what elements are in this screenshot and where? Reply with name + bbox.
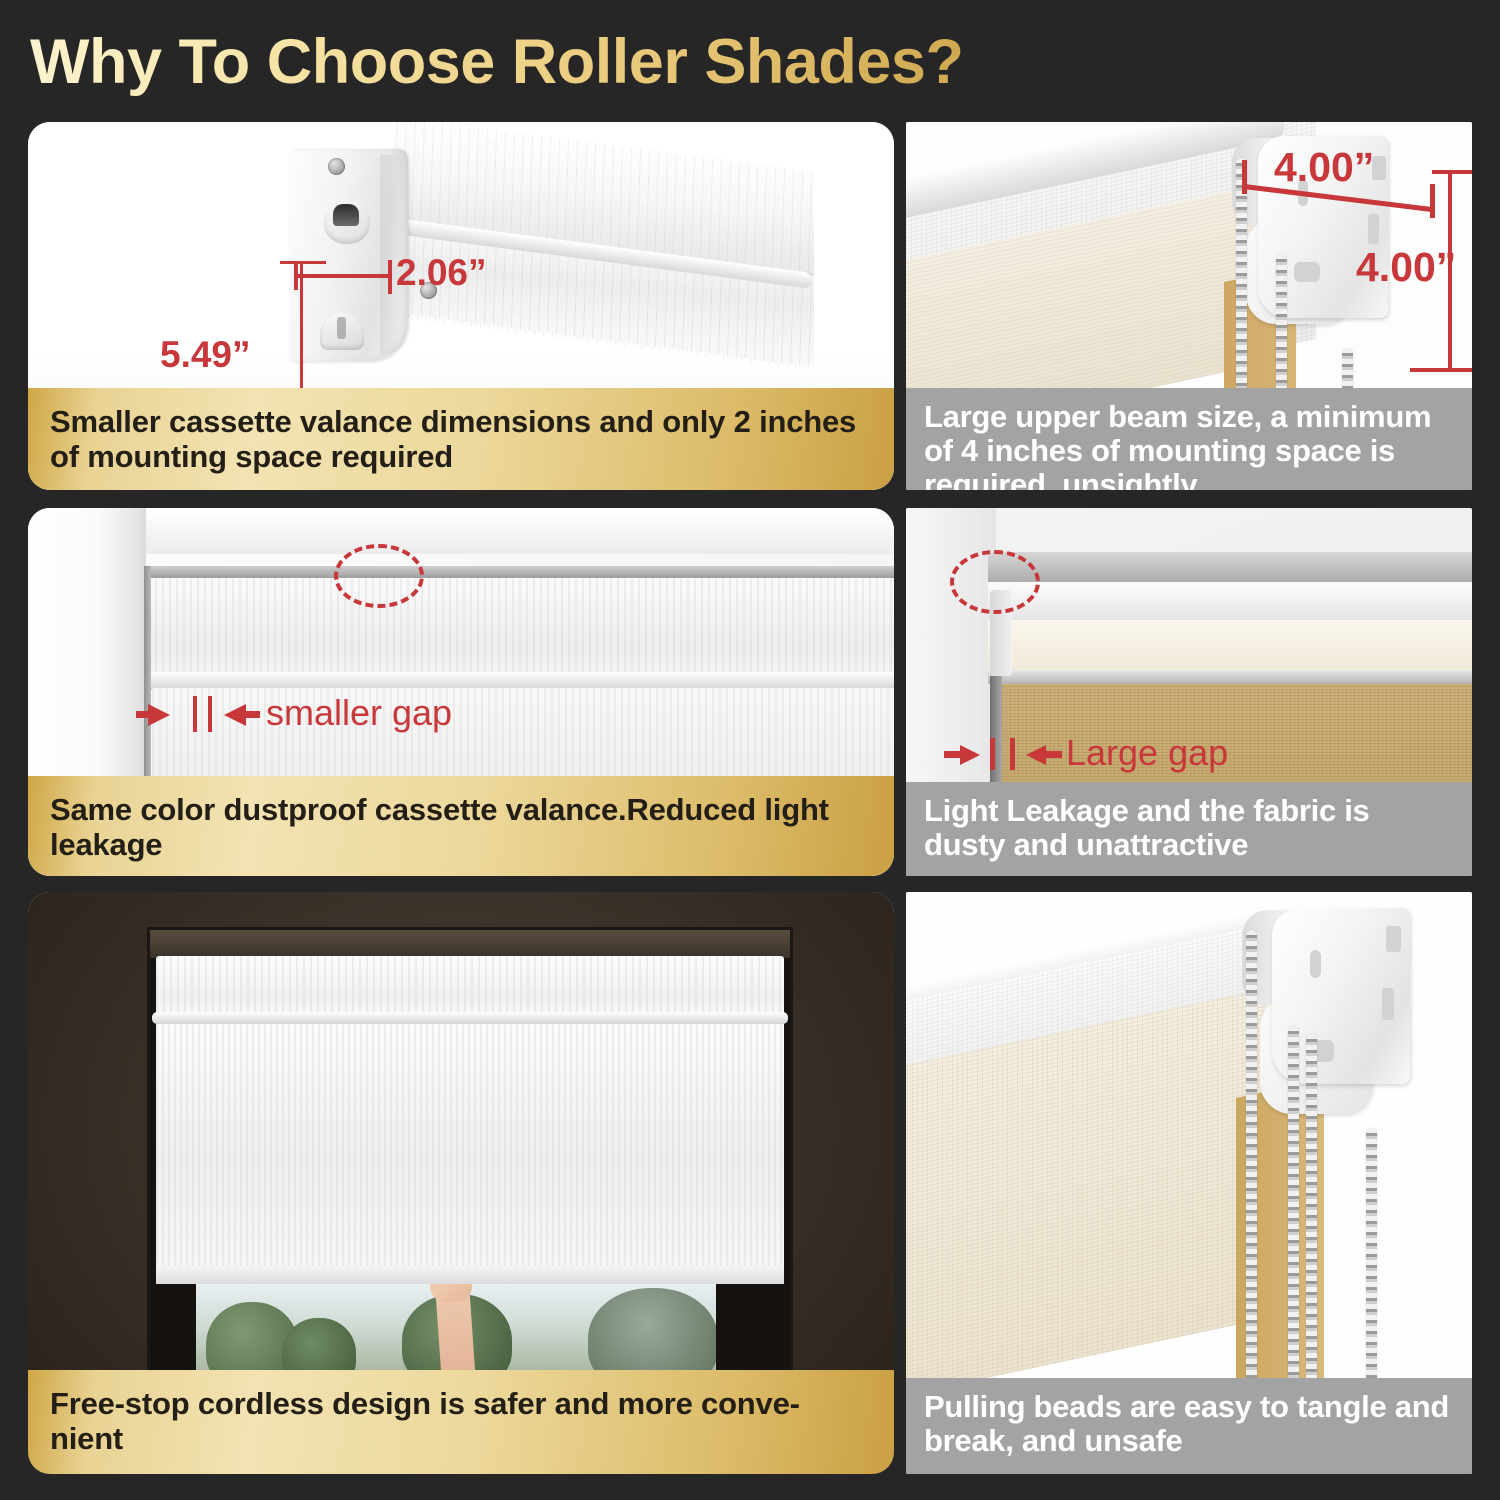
bead-chain-middle bbox=[1288, 1026, 1299, 1390]
dimension-tick-top bbox=[280, 261, 326, 264]
detail-highlight-circle bbox=[950, 550, 1040, 614]
gap-arrow-left bbox=[960, 745, 980, 765]
caption-bar-good: Smaller cassette valance dimensions and … bbox=[28, 388, 894, 490]
dimension-tick-bottom bbox=[1410, 368, 1472, 372]
page-title: Why To Choose Roller Shades? bbox=[30, 22, 1230, 102]
caption-text: Smaller cassette valance dimensions and … bbox=[50, 404, 872, 475]
caption-text: Light Leakage and the fabric is dusty an… bbox=[924, 794, 1454, 862]
gap-arrow-right bbox=[224, 704, 246, 726]
dimension-tick-left bbox=[1242, 160, 1247, 194]
bead-chain-middle bbox=[1276, 254, 1287, 402]
dimension-tick-right bbox=[388, 260, 392, 294]
panel-smaller-gap: smaller gap Same color dustproof cassett… bbox=[28, 508, 894, 876]
dimension-label-height: 5.49” bbox=[160, 334, 251, 376]
bead-chain-left bbox=[1236, 158, 1247, 398]
dimension-tick-left bbox=[294, 262, 298, 290]
dimension-label-height: 4.00” bbox=[1356, 244, 1456, 291]
roller-shade-fabric bbox=[156, 1024, 784, 1276]
cassette-bracket-foot bbox=[320, 312, 364, 350]
bead-chain-right bbox=[1366, 1128, 1377, 1390]
cassette-knob bbox=[324, 200, 370, 244]
gap-arrow-right-stem bbox=[244, 711, 260, 718]
gap-arrow-left-stem bbox=[944, 751, 962, 758]
hand bbox=[434, 1269, 476, 1385]
caption-bar-good: Free-stop cordless design is safer and m… bbox=[28, 1370, 894, 1474]
gap-tick-right bbox=[208, 696, 212, 732]
panel-large-beam: 4.00” 4.00” Large upper beam size, a min… bbox=[906, 122, 1472, 490]
panel-cordless-design: Free-stop cordless design is safer and m… bbox=[28, 892, 894, 1474]
dimension-label-width: 2.06” bbox=[396, 252, 487, 294]
caption-bar-bad: Light Leakage and the fabric is dusty an… bbox=[906, 782, 1472, 876]
panel-pulling-beads: Pulling beads are easy to tangle and bre… bbox=[906, 892, 1472, 1474]
bead-chain-middle-2 bbox=[1306, 1034, 1317, 1390]
bead-chain-left bbox=[1246, 930, 1257, 1390]
caption-bar-bad: Pulling beads are easy to tangle and bre… bbox=[906, 1378, 1472, 1474]
cassette-valance bbox=[156, 956, 784, 1016]
caption-text: Same color dustproof cassette valance.Re… bbox=[50, 792, 872, 863]
gap-tick-left bbox=[193, 696, 197, 732]
caption-text: Pulling beads are easy to tangle and bre… bbox=[924, 1390, 1454, 1458]
detail-highlight-circle bbox=[334, 544, 424, 608]
gap-tick-right bbox=[1010, 738, 1015, 770]
gap-label: smaller gap bbox=[266, 692, 452, 734]
panel-large-gap: Large gap Light Leakage and the fabric i… bbox=[906, 508, 1472, 876]
gap-arrow-right bbox=[1026, 745, 1046, 765]
caption-bar-good: Same color dustproof cassette valance.Re… bbox=[28, 776, 894, 876]
gap-arrow-right-stem bbox=[1044, 751, 1062, 758]
dimension-tick-top bbox=[1432, 170, 1472, 174]
dimension-tick-right bbox=[1430, 184, 1435, 218]
gap-label: Large gap bbox=[1066, 732, 1228, 774]
bottom-rail bbox=[156, 1266, 784, 1284]
panel-smaller-cassette: 2.06” 5.49” Smaller cassette valance dim… bbox=[28, 122, 894, 490]
caption-text: Large upper beam size, a minimum of 4 in… bbox=[924, 400, 1454, 490]
gap-arrow-left-stem bbox=[136, 711, 152, 718]
caption-text: Free-stop cordless design is safer and m… bbox=[50, 1386, 872, 1457]
gap-edge bbox=[144, 566, 151, 808]
caption-bar-bad: Large upper beam size, a minimum of 4 in… bbox=[906, 388, 1472, 490]
gap-tick-left bbox=[990, 738, 995, 770]
dimension-line-horizontal bbox=[296, 274, 392, 278]
dimension-label-width: 4.00” bbox=[1274, 144, 1374, 191]
